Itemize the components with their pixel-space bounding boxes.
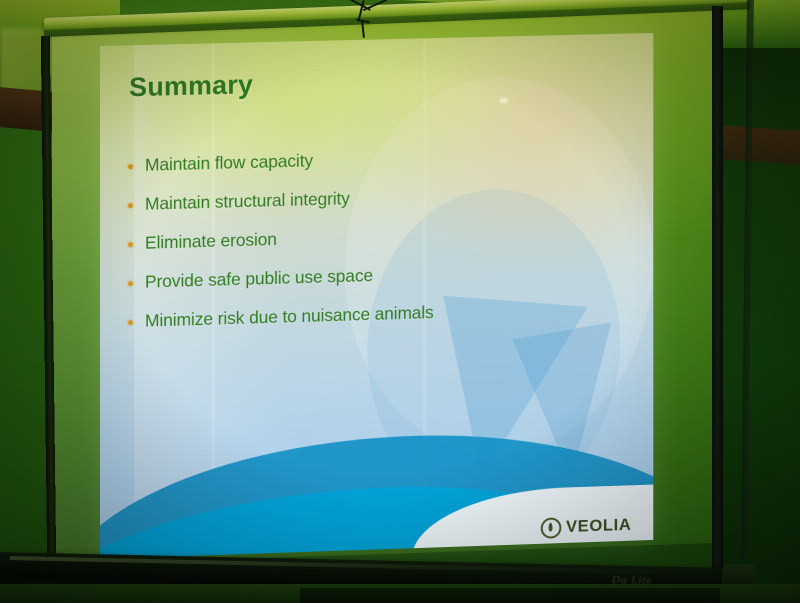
- list-item: Maintain structural integrity: [128, 181, 615, 216]
- bullet-text: Eliminate erosion: [145, 229, 277, 254]
- veolia-droplet-circle-icon: [540, 517, 561, 539]
- bullet-text: Maintain flow capacity: [145, 151, 313, 177]
- screen-frame-right: [712, 6, 723, 582]
- bullet-dot-icon: [128, 281, 133, 286]
- ceiling-hook-icon: [338, 0, 398, 38]
- veolia-wordmark: VEOLIA: [566, 515, 631, 537]
- bullet-text: Maintain structural integrity: [145, 188, 350, 215]
- slide-title: Summary: [129, 69, 253, 103]
- bullet-dot-icon: [128, 203, 133, 208]
- slide-background: Summary Maintain flow capacity Maintain …: [100, 33, 653, 559]
- bullet-dot-icon: [128, 320, 133, 325]
- list-item: Provide safe public use space: [128, 258, 615, 294]
- bullet-text: Minimize risk due to nuisance animals: [145, 302, 434, 332]
- veolia-logo: VEOLIA: [540, 515, 631, 539]
- slide-bullet-list: Maintain flow capacity Maintain structur…: [128, 143, 615, 350]
- bullet-dot-icon: [128, 164, 133, 169]
- bullet-dot-icon: [128, 242, 133, 247]
- list-item: Eliminate erosion: [128, 220, 615, 255]
- projected-slide: Summary Maintain flow capacity Maintain …: [100, 33, 653, 559]
- screen-speck: [500, 97, 509, 102]
- floor-shadow: [300, 588, 720, 603]
- list-item: Minimize risk due to nuisance animals: [128, 297, 615, 333]
- projected-slide-photo: Summary Maintain flow capacity Maintain …: [0, 0, 800, 603]
- wall-right: [718, 0, 800, 603]
- bullet-text: Provide safe public use space: [145, 265, 373, 293]
- wood-trim-right: [718, 125, 800, 165]
